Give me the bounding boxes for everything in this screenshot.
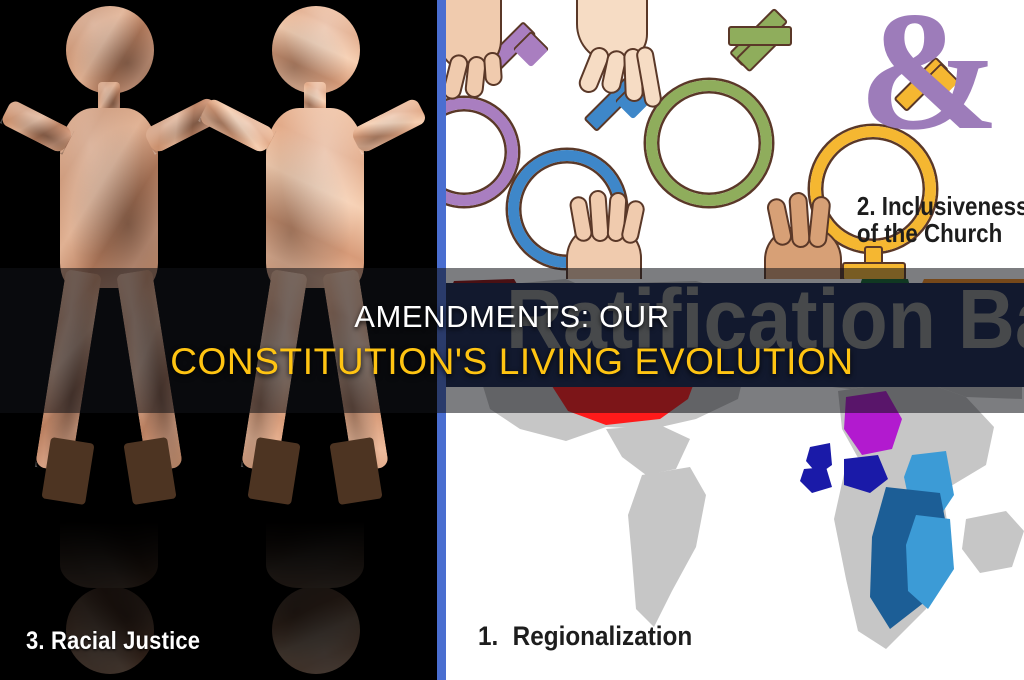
regionalization-caption-text: Regionalization bbox=[513, 621, 693, 651]
paper-person-head bbox=[272, 6, 360, 94]
region-south-africa-inner bbox=[906, 515, 954, 609]
hand-reaching-upper-center-icon bbox=[566, 0, 676, 130]
inclusiveness-illustration-panel: & 2. Inclusiveness of the Church bbox=[446, 0, 1024, 279]
paper-person-arm-right bbox=[350, 97, 428, 155]
paper-person-torso bbox=[60, 108, 158, 288]
paper-person-arm-left bbox=[198, 97, 276, 155]
paper-person-foot-right bbox=[123, 437, 176, 505]
inclusiveness-caption-line1: 2. Inclusiveness bbox=[856, 193, 1024, 220]
regionalization-caption: 1.Regionalization bbox=[478, 621, 692, 652]
inclusiveness-caption-line2: of the Church bbox=[856, 220, 1024, 247]
paper-person-left bbox=[20, 0, 195, 520]
title-line-1: AMENDMENTS: OUR bbox=[354, 299, 670, 335]
paper-person-arm-left bbox=[0, 99, 74, 155]
paper-person-foot-left bbox=[41, 437, 94, 505]
paper-person-torso bbox=[266, 108, 364, 288]
paper-person-reflection bbox=[20, 520, 195, 680]
ampersand-glyph: & bbox=[858, 0, 1000, 156]
hand-reaching-lower-blue-icon bbox=[556, 190, 666, 279]
paper-person-foot-left bbox=[247, 437, 300, 505]
paper-person-foot-right bbox=[329, 437, 382, 505]
regionalization-caption-number: 1. bbox=[478, 621, 498, 651]
hand-reaching-upper-left-icon bbox=[446, 0, 518, 114]
region-west-africa-2 bbox=[800, 467, 832, 493]
racial-justice-caption: 3. Racial Justice bbox=[26, 627, 200, 656]
image-canvas: 3. Racial Justice bbox=[0, 0, 1024, 680]
hand-reaching-lower-yellow-icon bbox=[756, 196, 866, 279]
inclusiveness-caption: 2. Inclusiveness of the Church bbox=[856, 193, 1024, 247]
paper-person-reflection bbox=[230, 520, 405, 680]
title-overlay: AMENDMENTS: OUR CONSTITUTION'S LIVING EV… bbox=[0, 268, 1024, 413]
paper-person-right bbox=[230, 0, 405, 520]
paper-person-head bbox=[66, 6, 154, 94]
title-line-2: CONSTITUTION'S LIVING EVOLUTION bbox=[170, 341, 854, 383]
